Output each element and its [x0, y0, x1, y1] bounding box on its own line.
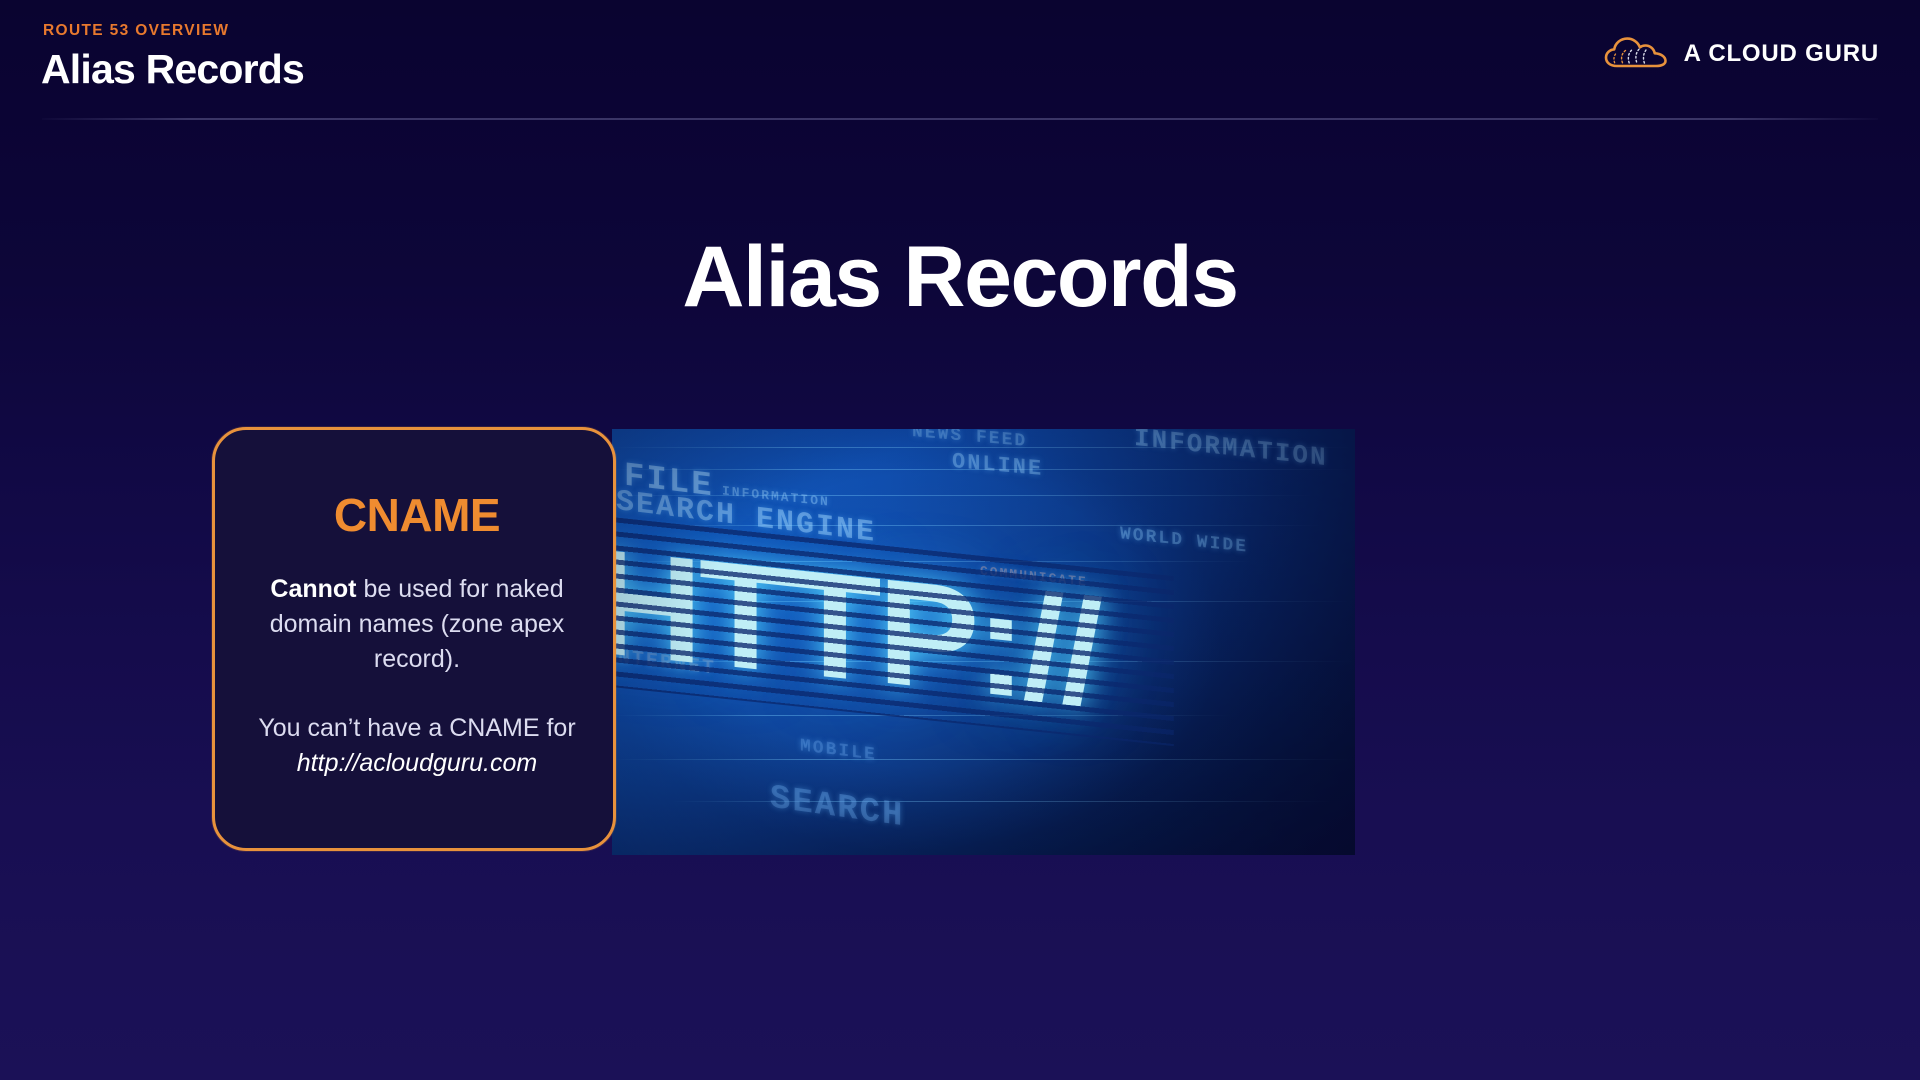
image-vignette	[612, 429, 1355, 855]
http-illustration: FILE SEARCH ENGINE INFORMATION ONLINE NE…	[612, 429, 1355, 855]
header-divider	[42, 118, 1878, 120]
cname-emphasis: Cannot	[270, 575, 356, 603]
brand-logo: A CLOUD GURU	[1604, 36, 1879, 72]
page-title: Alias Records	[0, 228, 1920, 327]
cname-card-body: Cannot be used for naked domain names (z…	[239, 572, 595, 781]
logo-text: A CLOUD GURU	[1684, 40, 1879, 68]
cname-card: CNAME Cannot be used for naked domain na…	[212, 427, 616, 851]
cname-url: http://acloudguru.com	[297, 749, 537, 777]
header-title: Alias Records	[41, 46, 304, 93]
slide: ROUTE 53 OVERVIEW Alias Records A CLOUD …	[0, 0, 1920, 1080]
cloud-outline-icon	[1604, 36, 1670, 72]
cname-paragraph-2-lead: You can’t have a CNAME for	[258, 714, 575, 742]
header-eyebrow: ROUTE 53 OVERVIEW	[43, 22, 229, 40]
cname-card-title: CNAME	[215, 488, 616, 542]
paragraph-spacer	[239, 677, 595, 711]
slide-header: ROUTE 53 OVERVIEW Alias Records A CLOUD …	[0, 0, 1920, 120]
